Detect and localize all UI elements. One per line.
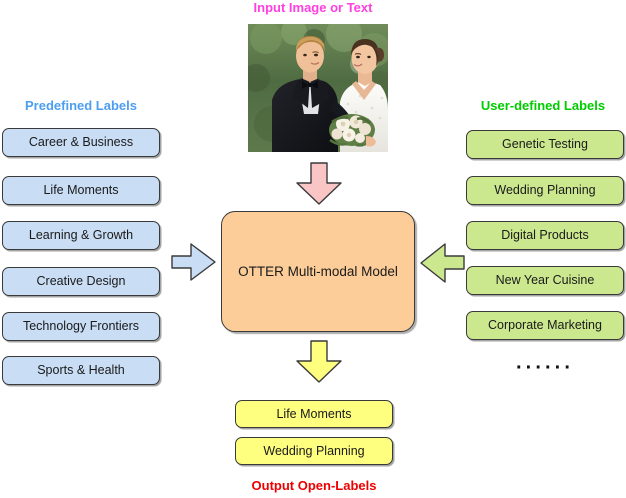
output-labels-heading: Output Open-Labels	[234, 478, 394, 493]
arrow-down-input-to-model	[294, 162, 344, 206]
predefined-label-item[interactable]: Life Moments	[2, 176, 160, 205]
userdefined-label-item[interactable]: Genetic Testing	[466, 130, 624, 159]
otter-model-box[interactable]: OTTER Multi-modal Model	[221, 211, 415, 332]
predefined-label-item[interactable]: Career & Business	[2, 128, 160, 157]
arrow-left-userdefined-to-model	[419, 242, 465, 284]
userdefined-label-item[interactable]: New Year Cuisine	[466, 266, 624, 295]
userdefined-label-item[interactable]: Corporate Marketing	[466, 311, 624, 340]
userdefined-label-item[interactable]: Wedding Planning	[466, 176, 624, 205]
arrow-down-model-to-output	[294, 340, 344, 384]
output-label-item[interactable]: Life Moments	[235, 400, 393, 428]
userdefined-labels-heading: User-defined Labels	[464, 98, 622, 113]
predefined-label-item[interactable]: Learning & Growth	[2, 221, 160, 250]
userdefined-labels-ellipsis: ······	[466, 358, 624, 378]
predefined-label-item[interactable]: Creative Design	[2, 267, 160, 296]
predefined-label-item[interactable]: Sports & Health	[2, 356, 160, 385]
predefined-labels-heading: Predefined Labels	[0, 98, 162, 113]
arrow-right-predefined-to-model	[171, 242, 217, 282]
output-label-item[interactable]: Wedding Planning	[235, 437, 393, 465]
input-section-heading: Input Image or Text	[0, 0, 626, 15]
input-image-photo	[248, 24, 388, 152]
predefined-label-item[interactable]: Technology Frontiers	[2, 312, 160, 341]
userdefined-label-item[interactable]: Digital Products	[466, 221, 624, 250]
diagram-canvas: Input Image or Text Predefined Labels Us…	[0, 0, 626, 498]
